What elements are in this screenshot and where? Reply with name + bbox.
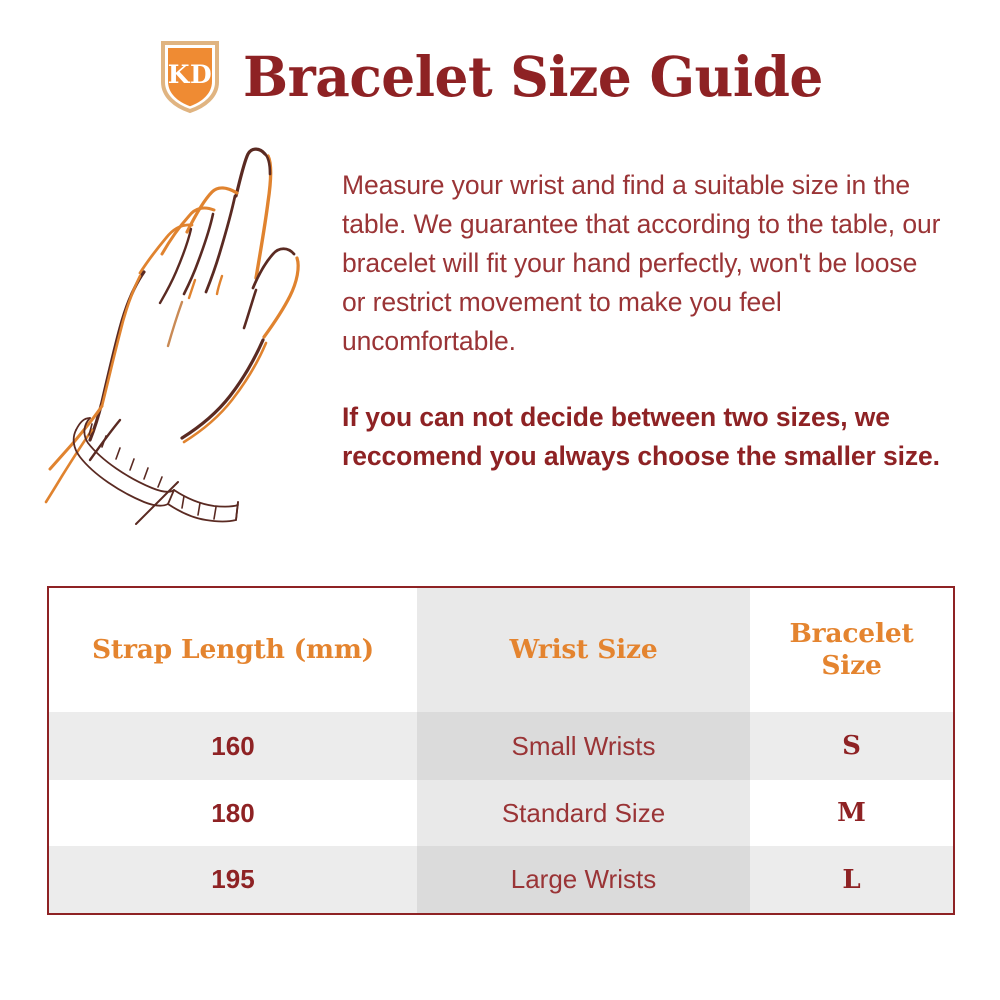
cell-bracelet-size: M: [750, 780, 953, 846]
recommendation-paragraph: If you can not decide between two sizes,…: [342, 398, 942, 476]
page-header: KD Bracelet Size Guide: [0, 28, 1000, 124]
bracelet-size-table: Strap Length (mm) Wrist Size Bracelet Si…: [47, 586, 955, 915]
cell-strap-length: 180: [49, 780, 417, 846]
table-header-row: Strap Length (mm) Wrist Size Bracelet Si…: [49, 588, 953, 712]
cell-wrist-size: Standard Size: [417, 780, 750, 846]
column-header-bracelet-size: Bracelet Size: [750, 588, 953, 712]
column-header-strap-length: Strap Length (mm): [49, 588, 417, 712]
column-header-wrist-size-label: Wrist Size: [509, 634, 657, 666]
cell-wrist-size: Large Wrists: [417, 846, 750, 913]
cell-bracelet-size: L: [750, 846, 953, 913]
table-row: 195 Large Wrists L: [49, 846, 953, 913]
page-title: Bracelet Size Guide: [243, 49, 823, 104]
svg-text:KD: KD: [168, 60, 212, 89]
cell-wrist-size: Small Wrists: [417, 712, 750, 780]
column-header-strap-length-label: Strap Length (mm): [92, 634, 374, 666]
column-header-wrist-size: Wrist Size: [417, 588, 750, 712]
cell-strap-length: 160: [49, 712, 417, 780]
shield-badge-icon: KD: [159, 38, 221, 114]
column-header-bracelet-size-label-line1: Bracelet: [789, 618, 913, 649]
size-guide-page: KD Bracelet Size Guide: [0, 0, 1000, 1000]
tape-ticks-lower: [182, 496, 216, 519]
hand-with-measuring-tape-illustration: [32, 130, 332, 540]
cell-bracelet-size: S: [750, 712, 953, 780]
table-row: 160 Small Wrists S: [49, 712, 953, 780]
instructions-block: Measure your wrist and find a suitable s…: [342, 166, 942, 476]
instructions-paragraph: Measure your wrist and find a suitable s…: [342, 166, 942, 361]
column-header-bracelet-size-label-line2: Size: [821, 650, 881, 681]
kd-brand-logo: KD: [159, 38, 221, 114]
cell-strap-length: 195: [49, 846, 417, 913]
table-row: 180 Standard Size M: [49, 780, 953, 846]
